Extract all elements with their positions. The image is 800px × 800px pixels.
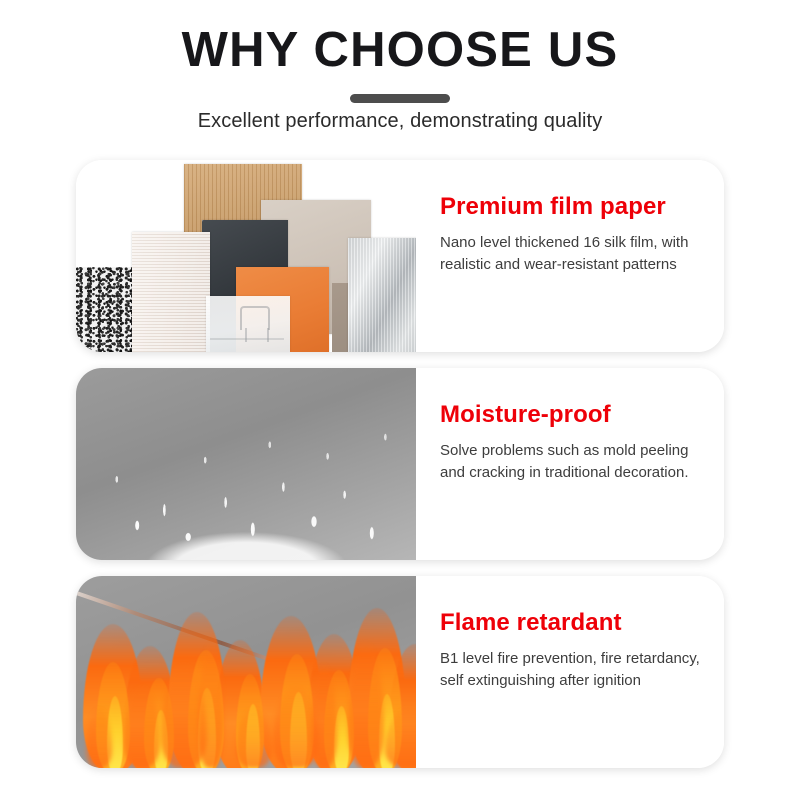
- feature-card-body: Moisture-proof Solve problems such as mo…: [416, 368, 724, 560]
- page-subtitle: Excellent performance, demonstrating qua…: [0, 110, 800, 133]
- feature-card-premium-film-paper[interactable]: Premium film paper Nano level thickened …: [76, 160, 724, 352]
- brushed-metal-panel: [348, 238, 416, 352]
- why-choose-us-page: WHY CHOOSE US Excellent performance, dem…: [0, 0, 800, 800]
- floor-reflection-line: [210, 338, 284, 340]
- feature-card-moisture-proof[interactable]: Moisture-proof Solve problems such as mo…: [76, 368, 724, 560]
- feature-heading: Flame retardant: [440, 610, 702, 636]
- title-divider-rule: [350, 94, 450, 103]
- cream-linear-grain-panel: [132, 232, 210, 352]
- feature-card-flame-retardant[interactable]: Flame retardant B1 level fire prevention…: [76, 576, 724, 768]
- feature-description: B1 level fire prevention, fire retardanc…: [440, 648, 702, 692]
- feature-heading: Premium film paper: [440, 194, 702, 220]
- page-title: WHY CHOOSE US: [0, 26, 800, 75]
- feature-card-body: Flame retardant B1 level fire prevention…: [416, 576, 724, 768]
- chair-reflection-icon: [240, 306, 270, 330]
- feature-card-body: Premium film paper Nano level thickened …: [416, 160, 724, 352]
- flames-over-marble-photo: [76, 576, 416, 768]
- material-swatch-samples-photo: [76, 160, 416, 352]
- glossy-white-panel: [206, 296, 290, 352]
- wet-gray-marble-photo: [76, 368, 416, 560]
- feature-heading: Moisture-proof: [440, 402, 702, 428]
- feature-description: Nano level thickened 16 silk film, with …: [440, 232, 702, 276]
- feature-description: Solve problems such as mold peeling and …: [440, 440, 702, 484]
- water-splash-droplets: [76, 368, 416, 560]
- flame-layer: [76, 576, 416, 768]
